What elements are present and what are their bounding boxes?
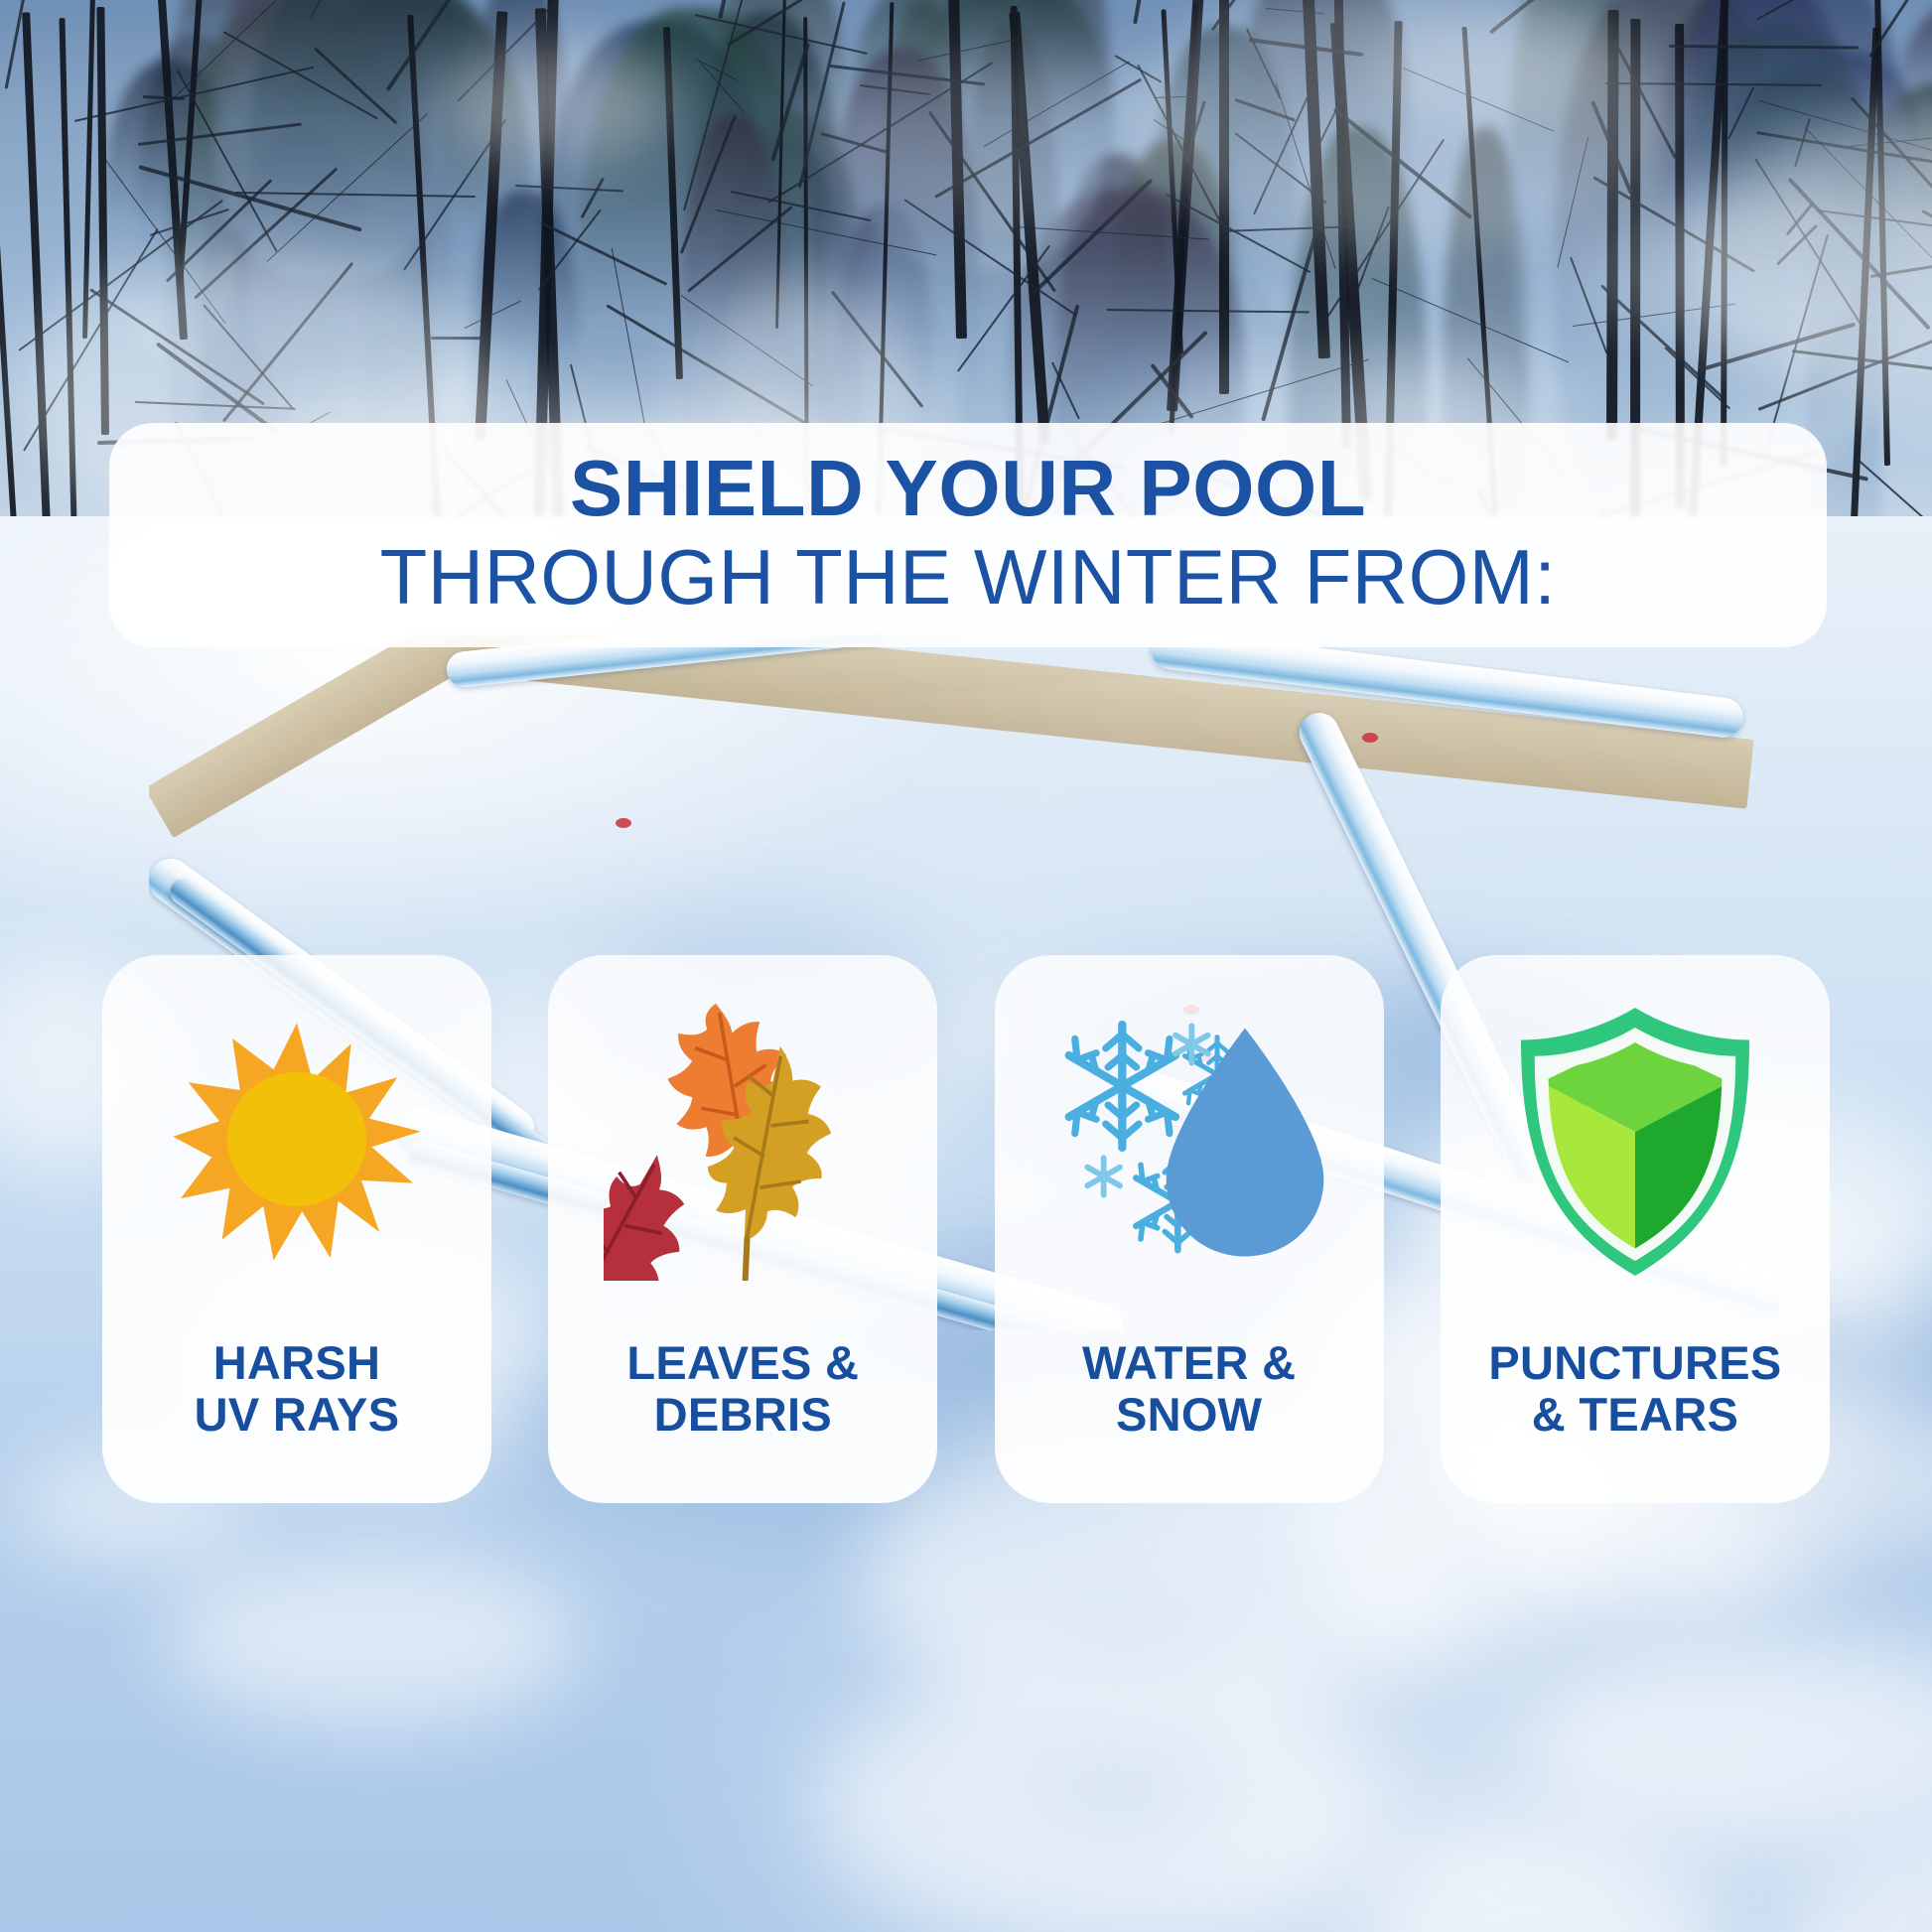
feature-card-harsh-uv-rays[interactable]: HARSH UV RAYS: [102, 955, 491, 1503]
card-label: WATER & SNOW: [995, 1337, 1384, 1442]
headline-line-2: THROUGH THE WINTER FROM:: [380, 534, 1557, 621]
feature-card-water-and-snow[interactable]: WATER & SNOW: [995, 955, 1384, 1503]
card-label-line-2: & TEARS: [1441, 1389, 1830, 1442]
icon-container: [1486, 993, 1784, 1291]
tree-trunk: [22, 12, 53, 578]
snow-haze: [808, 53, 1198, 217]
shield-cube-icon: [1511, 1003, 1759, 1281]
feature-card-row: HARSH UV RAYS: [102, 955, 1830, 1503]
icon-container: [148, 993, 446, 1291]
snow-drift: [1356, 1826, 1725, 1932]
card-label: HARSH UV RAYS: [102, 1337, 491, 1442]
card-label: PUNCTURES & TEARS: [1441, 1337, 1830, 1442]
card-label-line-2: DEBRIS: [548, 1389, 937, 1442]
feature-card-punctures-and-tears[interactable]: PUNCTURES & TEARS: [1441, 955, 1830, 1503]
card-label-line-1: LEAVES &: [626, 1336, 859, 1389]
tube-cap: [616, 818, 631, 828]
headline-banner: SHIELD YOUR POOL THROUGH THE WINTER FROM…: [109, 423, 1827, 647]
card-label-line-2: UV RAYS: [102, 1389, 491, 1442]
headline-line-1: SHIELD YOUR POOL: [570, 449, 1366, 528]
sun-icon: [168, 1013, 426, 1271]
snow-drift: [814, 1664, 1386, 1932]
icon-container: [1040, 993, 1338, 1291]
snow-drift: [164, 1549, 582, 1727]
feature-card-leaves-and-debris[interactable]: LEAVES & DEBRIS: [548, 955, 937, 1503]
card-label-line-1: HARSH: [213, 1336, 381, 1389]
tree-trunk: [0, 15, 18, 557]
card-label: LEAVES & DEBRIS: [548, 1337, 937, 1442]
snowflake-waterdrop-icon: [1045, 1003, 1333, 1281]
card-label-line-1: PUNCTURES: [1488, 1336, 1781, 1389]
tree-trunk: [82, 0, 95, 339]
card-label-line-2: SNOW: [995, 1389, 1384, 1442]
snow-haze: [437, 44, 675, 165]
falling-leaves-icon: [604, 1003, 882, 1281]
card-label-line-1: WATER &: [1082, 1336, 1296, 1389]
icon-container: [594, 993, 892, 1291]
tube-cap: [1362, 733, 1378, 743]
snow-drift: [1525, 1646, 1932, 1845]
